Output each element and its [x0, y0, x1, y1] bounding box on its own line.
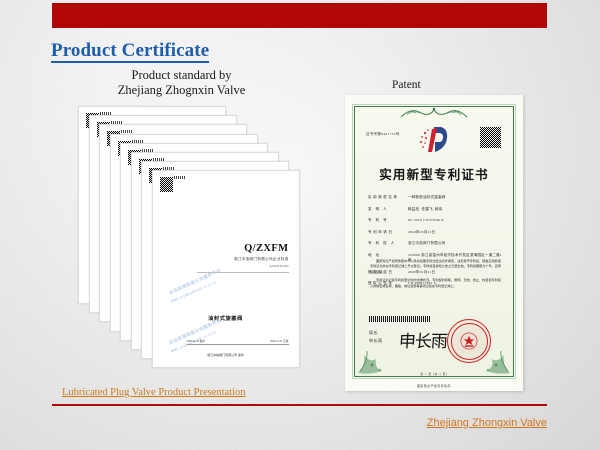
certificate-body-text: 国家知识产权局依照中华人民共和国专利法经过初步审查，决定授予专利权，颁发实用新型… — [370, 259, 501, 292]
certificate-field-label: 专 利 权 人 — [368, 241, 408, 246]
ornament-bottom-left-icon — [356, 335, 402, 375]
standard-document-front-sheet: Q/ZXFM浙江中信阀门有限公司企业标准Q/ZXFM 05-2020油封式旋塞阀… — [152, 170, 300, 368]
certificate-field-value: 韩益品, 任建飞, 韩伟 — [408, 207, 502, 212]
standard-date-row: 2020-11-01 发布2020-11-01 实施 — [187, 339, 289, 345]
ornament-top-icon — [391, 106, 477, 119]
qr-code-icon — [480, 127, 501, 148]
standard-document-stack: Q/ZXFM浙江中信阀门有限公司企业标准Q/ZXFM 05-2020油封式旋塞阀… — [78, 106, 303, 368]
standard-issuer-footer: 浙江中信阀门有限公司 发布 — [153, 353, 299, 357]
certificate-field-label: 发 明 人 — [368, 207, 408, 212]
certificate-field-row: 专 利 权 人浙江中信阀门有限公司 — [368, 241, 502, 246]
certificate-field-value: 浙江中信阀门有限公司 — [408, 241, 502, 246]
footer-accent-rule — [52, 404, 547, 406]
qr-code-caption — [174, 176, 186, 179]
standard-product-name: 油封式旋塞阀 — [153, 315, 299, 322]
certificate-serial-number: 证书号第8467734号 — [366, 131, 400, 136]
director-handwritten-signature: 申长雨 — [398, 327, 448, 352]
page-title: Product Certificate — [51, 40, 209, 63]
ornament-bottom-right-icon — [466, 335, 512, 375]
certificate-field-row: 实用新型名称一种新型油封式旋塞阀 — [368, 195, 502, 200]
standard-effective-date: 2020-11-01 实施 — [270, 339, 289, 343]
header-accent-bar — [52, 3, 547, 28]
certificate-barcode — [369, 316, 431, 322]
certificate-field-value: 一种新型油封式旋塞阀 — [408, 195, 502, 200]
standard-code: Q/ZXFM — [244, 243, 288, 254]
certificate-field-row: 专利申请日2019年05月22日 — [368, 230, 502, 235]
certificate-issuing-office: 国家知识产权局专利局 — [345, 384, 523, 388]
certificate-field-value: ZL 2019 2 0727646.X — [408, 218, 502, 223]
footer-presentation-link[interactable]: Lubricated Plug Valve Product Presentati… — [62, 387, 246, 398]
standard-revision: Q/ZXFM 05-2020 — [269, 265, 288, 268]
certificate-paragraph-1: 国家知识产权局依照中华人民共和国专利法经过初步审查，决定授予专利权，颁发实用新型… — [370, 259, 501, 275]
certificate-field-label: 专利申请日 — [368, 230, 408, 235]
patent-office-logo-icon — [417, 125, 451, 155]
right-section-subtitle: Patent — [392, 79, 421, 91]
certificate-paragraph-2: 专利证书记载专利权登记时的法律状况。专利权的转移、质押、无效、终止、恢复和专利权… — [370, 278, 501, 289]
certificate-field-value: 2019年05月22日 — [408, 230, 502, 235]
presentation-slide: Product Certificate Product standard by … — [0, 0, 600, 450]
left-subtitle-line-2: Zhejiang Zhognxin Valve — [74, 83, 289, 98]
qr-code-icon — [160, 177, 173, 192]
patent-certificate-image: 证书号第8467734号 实用新型专利证书 实用新型名称一种新型油封式旋塞阀发 … — [345, 95, 523, 391]
certificate-field-label: 实用新型名称 — [368, 195, 408, 200]
footer-company-brand[interactable]: Zhejiang Zhongxin Valve — [427, 417, 547, 429]
certificate-field-row: 发 明 人韩益品, 任建飞, 韩伟 — [368, 207, 502, 212]
certificate-field-row: 专 利 号ZL 2019 2 0727646.X — [368, 218, 502, 223]
certificate-title: 实用新型专利证书 — [355, 164, 513, 183]
left-subtitle-line-1: Product standard by — [74, 68, 289, 83]
left-section-subtitle: Product standard by Zhejiang Zhognxin Va… — [74, 68, 289, 98]
standard-publish-date: 2020-11-01 发布 — [187, 339, 206, 343]
standard-organization: 浙江中信阀门有限公司企业标准 — [234, 257, 289, 262]
certificate-field-label: 专 利 号 — [368, 218, 408, 223]
certificate-field-label: 地 址 — [368, 253, 408, 258]
certificate-border-frame: 证书号第8467734号 实用新型专利证书 实用新型名称一种新型油封式旋塞阀发 … — [354, 106, 514, 377]
